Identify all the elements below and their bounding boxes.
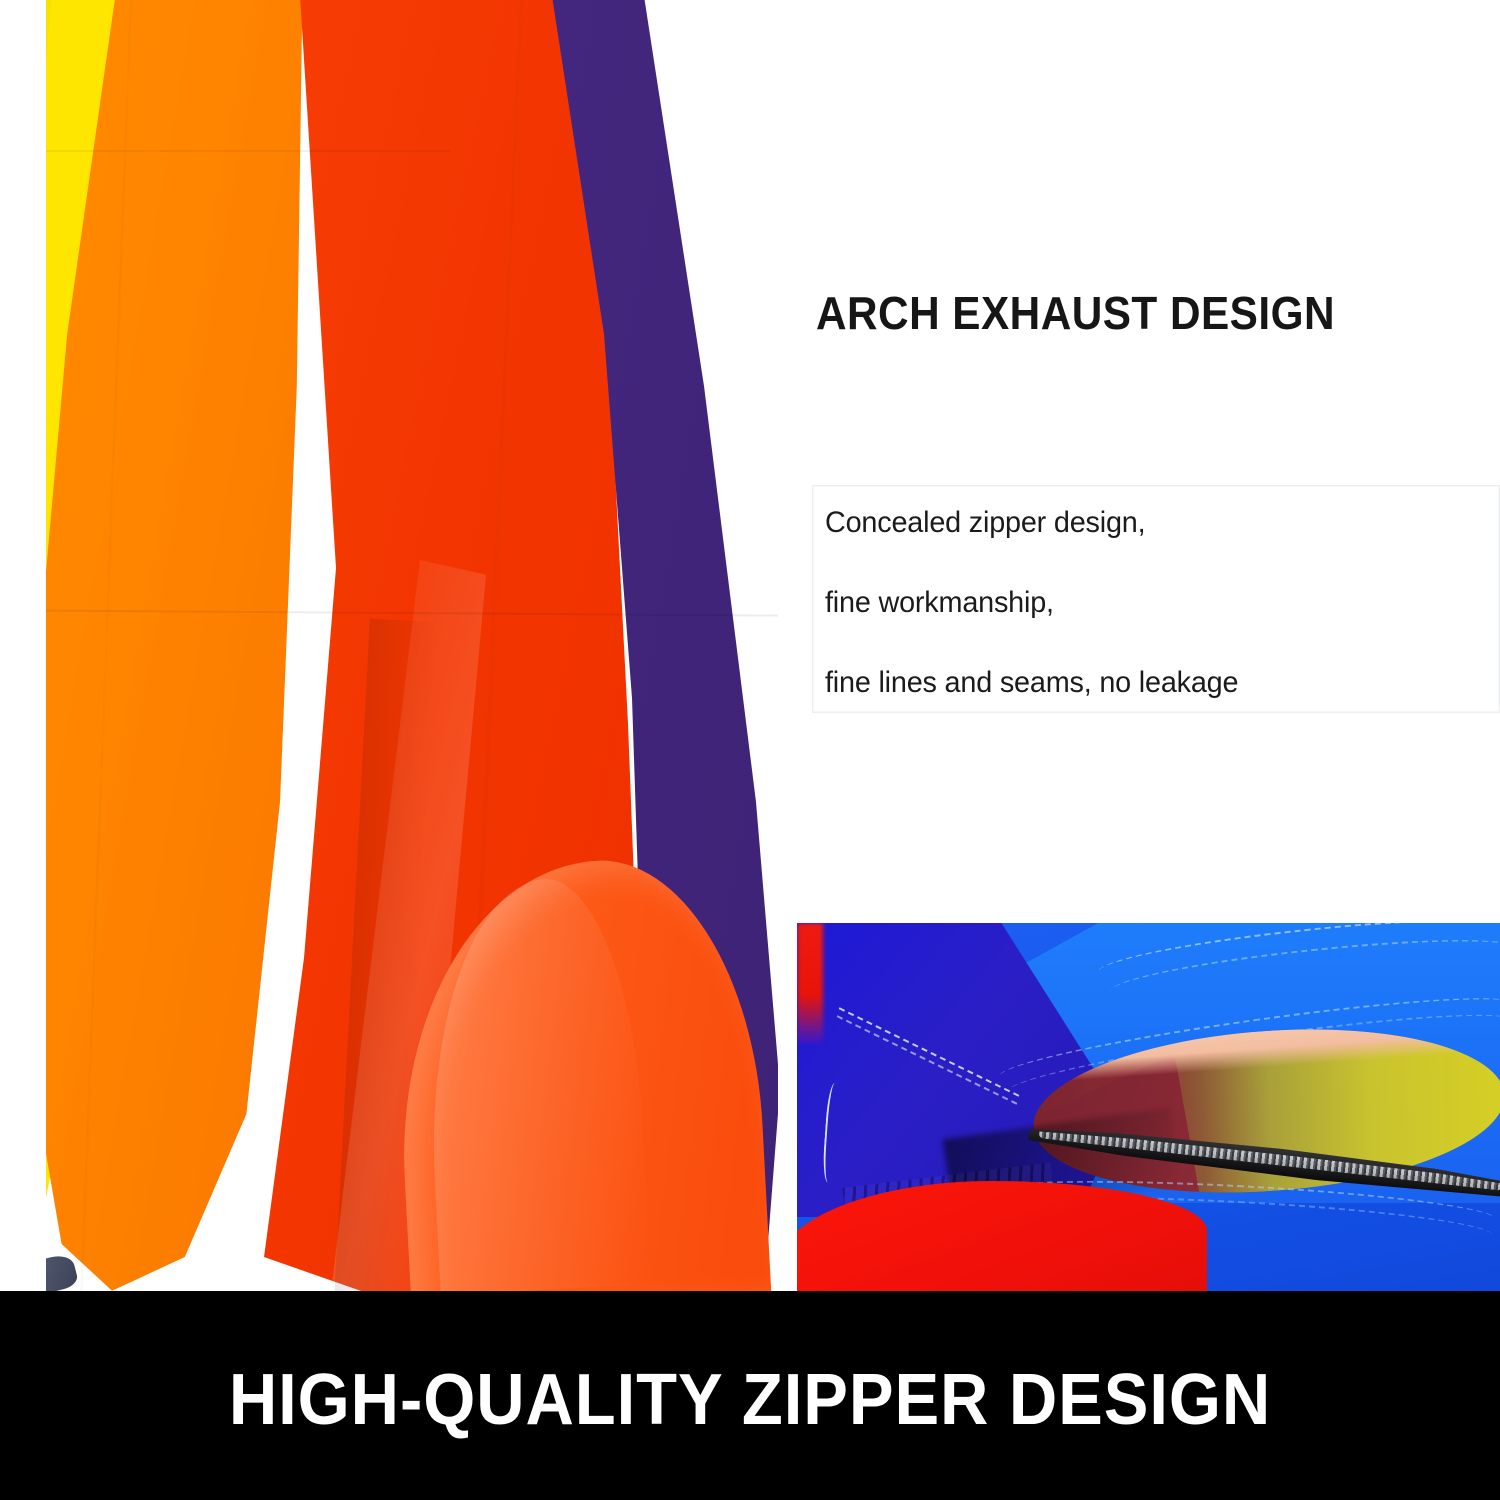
description-line-2: fine workmanship,	[825, 588, 1472, 618]
feature-description-box: Concealed zipper design, fine workmanshi…	[812, 485, 1500, 713]
product-feature-graphic: ARCH EXHAUST DESIGN Concealed zipper des…	[0, 0, 1500, 1500]
photo-margin-left	[0, 0, 46, 1291]
banner-headline: HIGH-QUALITY ZIPPER DESIGN	[229, 1364, 1271, 1436]
description-line-3: fine lines and seams, no leakage	[825, 668, 1472, 698]
hero-tent-photo	[0, 0, 800, 1291]
fabric-crease-line	[20, 150, 450, 152]
red-edge-strip	[797, 923, 823, 1043]
feature-heading: ARCH EXHAUST DESIGN	[816, 286, 1335, 340]
description-line-1: Concealed zipper design,	[825, 508, 1472, 538]
zipper-detail-photo	[797, 923, 1500, 1291]
